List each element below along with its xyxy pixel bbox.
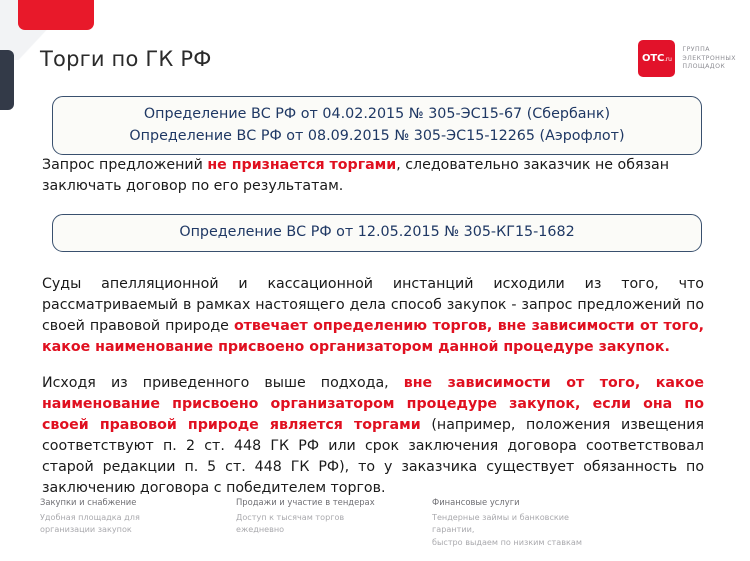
otc-logo-mark: OTC.ru bbox=[638, 40, 675, 77]
court-ruling-callout-2: Определение ВС РФ от 12.05.2015 № 305-КГ… bbox=[52, 214, 702, 252]
footer-services: Закупки и снабжение Удобная площадка для… bbox=[40, 496, 730, 548]
navy-tab-decoration bbox=[0, 50, 14, 110]
footer-desc-sales: Доступ к тысячам торговежедневно bbox=[236, 511, 432, 536]
paragraph-conclusion: Исходя из приведенного выше подхода, вне… bbox=[42, 373, 704, 499]
footer-title-finance: Финансовые услуги bbox=[432, 496, 730, 509]
footer-column-procurement: Закупки и снабжение Удобная площадка для… bbox=[40, 496, 236, 548]
red-tab-decoration bbox=[18, 0, 94, 30]
otc-logo-text: OTC.ru bbox=[642, 54, 672, 64]
para-1-highlight: не признается торгами bbox=[207, 157, 396, 173]
slide-canvas: Торги по ГК РФ OTC.ru ГРУППА ЭЛЕКТРОННЫХ… bbox=[0, 0, 750, 561]
para-1-text-a: Запрос предложений bbox=[42, 157, 207, 173]
brand-tagline-line-3: ПЛОЩАДОК bbox=[682, 63, 736, 71]
footer-desc-procurement: Удобная площадка дляорганизации закупок bbox=[40, 511, 236, 536]
otc-logo-name: OTC bbox=[642, 53, 664, 64]
para-3-text-a: Исходя из приведенного выше подхода, bbox=[42, 375, 404, 391]
otc-logo-suffix: .ru bbox=[664, 56, 672, 63]
paragraph-request-not-bidding: Запрос предложений не признается торгами… bbox=[42, 155, 704, 197]
footer-column-sales: Продажи и участие в тендерах Доступ к ты… bbox=[236, 496, 432, 548]
footer-title-procurement: Закупки и снабжение bbox=[40, 496, 236, 509]
footer-column-finance: Финансовые услуги Тендерные займы и банк… bbox=[432, 496, 730, 548]
brand-tagline-line-2: ЭЛЕКТРОННЫХ bbox=[682, 55, 736, 63]
brand-tagline: ГРУППА ЭЛЕКТРОННЫХ ПЛОЩАДОК bbox=[682, 46, 736, 71]
callout-1-line-1: Определение ВС РФ от 04.02.2015 № 305-ЭС… bbox=[63, 104, 691, 126]
footer-desc-finance: Тендерные займы и банковскиегарантии,быс… bbox=[432, 511, 730, 549]
otc-brand-logo: OTC.ru ГРУППА ЭЛЕКТРОННЫХ ПЛОЩАДОК bbox=[638, 40, 736, 77]
paragraph-courts-reasoning: Суды апелляционной и кассационной инстан… bbox=[42, 274, 704, 358]
brand-tagline-line-1: ГРУППА bbox=[682, 46, 736, 54]
court-ruling-callout-1: Определение ВС РФ от 04.02.2015 № 305-ЭС… bbox=[52, 96, 702, 155]
callout-1-line-2: Определение ВС РФ от 08.09.2015 № 305-ЭС… bbox=[63, 126, 691, 148]
footer-title-sales: Продажи и участие в тендерах bbox=[236, 496, 432, 509]
page-title: Торги по ГК РФ bbox=[40, 47, 212, 71]
callout-2-line-1: Определение ВС РФ от 12.05.2015 № 305-КГ… bbox=[63, 222, 691, 244]
